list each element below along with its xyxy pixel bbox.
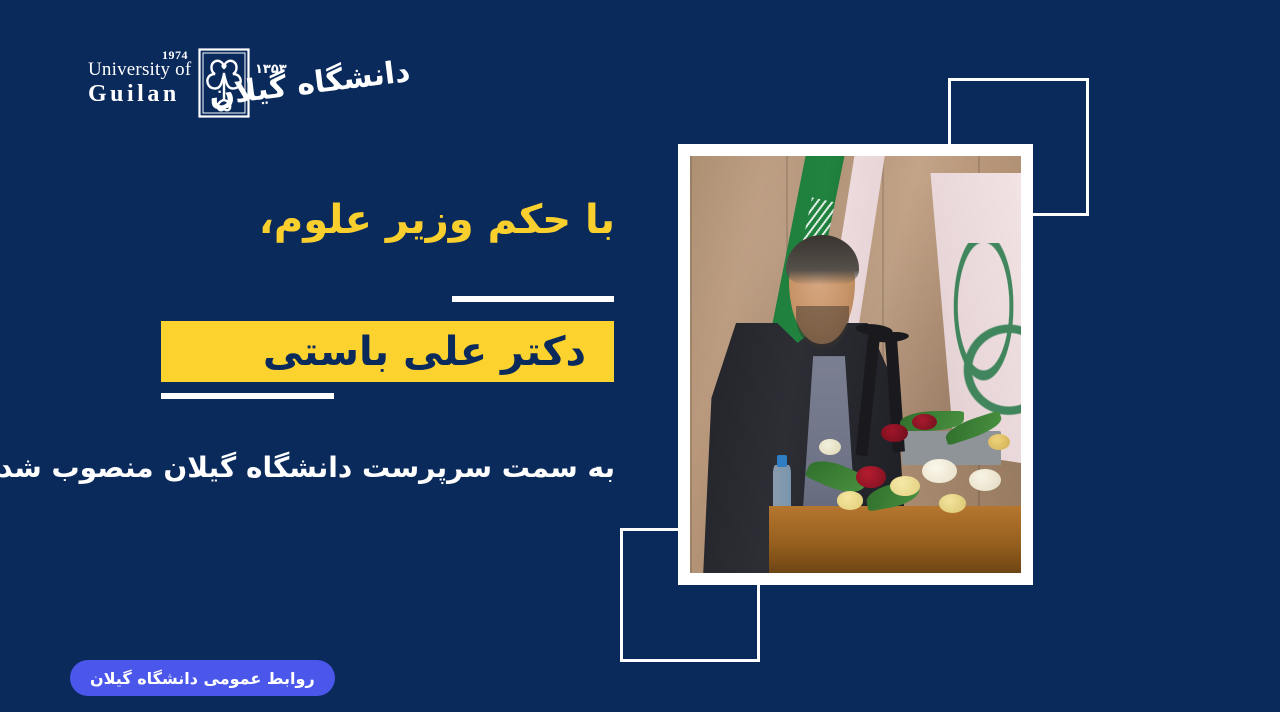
appointee-name: دکتر علی باستی — [263, 332, 586, 372]
speaker-photo — [690, 156, 1021, 573]
logo-persian-name: دانشگاه گیلان — [282, 50, 412, 109]
name-banner: دکتر علی باستی — [161, 321, 614, 382]
photo-flower-arrangement — [783, 406, 1021, 531]
speaker-photo-frame — [678, 144, 1033, 585]
accent-bar-top — [452, 296, 614, 302]
accent-bar-bottom — [161, 393, 334, 399]
headline-subline: به سمت سرپرست دانشگاه گیلان منصوب شد — [110, 450, 615, 486]
logo-english-name: University of Guilan — [88, 60, 194, 107]
announcement-poster: 1974 University of Guilan ۱۳۵۳ دانشگاه گ… — [0, 0, 1280, 712]
university-logo: 1974 University of Guilan ۱۳۵۳ دانشگاه گ… — [88, 44, 408, 124]
logo-english-line1: University of — [88, 60, 194, 80]
public-relations-badge: روابط عمومی دانشگاه گیلان — [70, 660, 335, 696]
logo-english-line2: Guilan — [88, 82, 194, 107]
headline-kicker: با حکم وزیر علوم، — [160, 196, 615, 244]
